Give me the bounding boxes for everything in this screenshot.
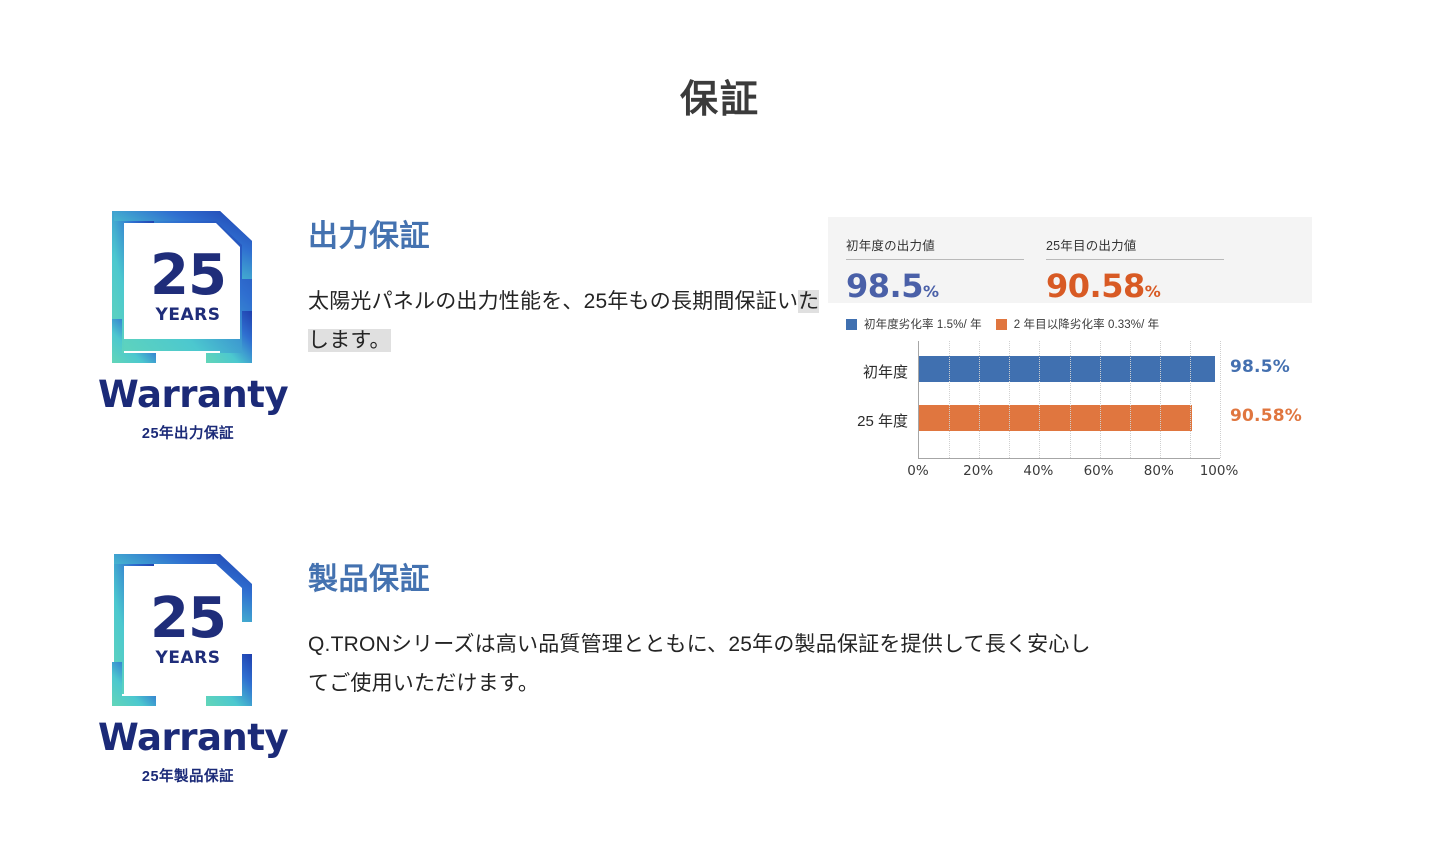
- legend-swatch-blue-icon: [846, 319, 857, 330]
- kpi-first-year-value: 98.5%: [846, 267, 1024, 305]
- legend-label-0: 初年度劣化率 1.5%/ 年: [864, 316, 982, 332]
- section-body-1: 太陽光パネルの出力性能を、25年もの長期間保証いたします。: [308, 283, 828, 361]
- badge-wordmark: Warranty: [98, 373, 278, 416]
- body-text-plain: 太陽光パネルの出力性能を、25年もの長期間保証い: [308, 290, 798, 313]
- slide-root: 保証: [0, 0, 1440, 867]
- badge-number: 25: [138, 249, 238, 302]
- bar-year-25: [919, 405, 1192, 431]
- x-tick-label: 80%: [1144, 463, 1174, 479]
- kpi-first-year-unit: %: [923, 282, 939, 301]
- badge-frame-2: 25 YEARS: [112, 554, 264, 706]
- badge-frame-1: 25 YEARS: [112, 211, 264, 363]
- kpi-first-year-number: 98.5: [846, 267, 923, 305]
- kpi-first-year: 初年度の出力値 98.5%: [846, 235, 1024, 305]
- chart-gridline: [1190, 341, 1191, 458]
- section-heading-2: 製品保証: [308, 562, 1108, 598]
- kpi-year-25-unit: %: [1145, 282, 1161, 301]
- chart-legend: 初年度劣化率 1.5%/ 年 2 年目以降劣化率 0.33%/ 年: [828, 316, 1312, 332]
- kpi-row: 初年度の出力値 98.5% 25年目の出力値 90.58%: [846, 235, 1294, 305]
- kpi-year-25-number: 90.58: [1046, 267, 1145, 305]
- body-text-plain: Q.TRONシリーズは高い品質管理とともに、25年の製品保証を提供して長く安心し…: [308, 633, 1091, 695]
- badge-number: 25: [138, 592, 238, 645]
- category-label-1: 25 年度: [857, 410, 908, 431]
- kpi-first-year-label: 初年度の出力値: [846, 235, 1024, 260]
- chart-plot-area: [918, 341, 1220, 459]
- chart-category-axis: 初年度 25 年度: [846, 341, 914, 459]
- legend-item-1: 2 年目以降劣化率 0.33%/ 年: [996, 316, 1160, 332]
- chart-x-axis-ticks: 0%20%40%60%80%100%: [918, 463, 1220, 485]
- x-tick-label: 20%: [963, 463, 993, 479]
- section-body-2: Q.TRONシリーズは高い品質管理とともに、25年の製品保証を提供して長く安心し…: [308, 626, 1108, 704]
- badge-caption: 25年出力保証: [98, 422, 278, 443]
- section-heading-1: 出力保証: [308, 219, 828, 255]
- chart-plot: 初年度 25 年度 98.5% 90.58% 0%20%40%60%80%100…: [846, 341, 1226, 477]
- chart-gridline: [1100, 341, 1101, 458]
- warranty-badge-2: 25 YEARS Warranty 25年製品保証: [98, 548, 278, 773]
- kpi-year-25: 25年目の出力値 90.58%: [1046, 235, 1224, 305]
- text-column-1: 出力保証 太陽光パネルの出力性能を、25年もの長期間保証いたします。: [308, 219, 828, 361]
- chart-gridline: [1039, 341, 1040, 458]
- kpi-year-25-label: 25年目の出力値: [1046, 235, 1224, 260]
- bar-first-year: [919, 356, 1215, 382]
- chart-gridline: [1220, 341, 1221, 458]
- warranty-badge-1: 25 YEARS Warranty 25年出力保証: [98, 205, 278, 430]
- x-tick-label: 0%: [907, 463, 928, 479]
- bar-value-first-year: 98.5%: [1230, 357, 1290, 377]
- badge-caption: 25年製品保証: [98, 765, 278, 786]
- badge-years-label: YEARS: [138, 305, 238, 325]
- page-title: 保証: [0, 68, 1440, 123]
- category-label-0: 初年度: [863, 361, 908, 382]
- output-warranty-chart: 初年度の出力値 98.5% 25年目の出力値 90.58%: [828, 217, 1312, 477]
- legend-swatch-orange-icon: [996, 319, 1007, 330]
- legend-label-1: 2 年目以降劣化率 0.33%/ 年: [1014, 316, 1160, 332]
- badge-inner-2: 25 YEARS: [138, 592, 238, 668]
- x-tick-label: 40%: [1023, 463, 1053, 479]
- x-tick-label: 60%: [1084, 463, 1114, 479]
- chart-gridline: [1160, 341, 1161, 458]
- kpi-year-25-value: 90.58%: [1046, 267, 1224, 305]
- chart-gridline: [1070, 341, 1071, 458]
- chart-gridline: [979, 341, 980, 458]
- kpi-panel: 初年度の出力値 98.5% 25年目の出力値 90.58%: [828, 217, 1312, 303]
- badge-years-label: YEARS: [138, 648, 238, 668]
- bar-value-year-25: 90.58%: [1230, 406, 1302, 426]
- chart-gridline: [949, 341, 950, 458]
- badge-inner-1: 25 YEARS: [138, 249, 238, 325]
- legend-item-0: 初年度劣化率 1.5%/ 年: [846, 316, 982, 332]
- text-column-2: 製品保証 Q.TRONシリーズは高い品質管理とともに、25年の製品保証を提供して…: [308, 562, 1108, 704]
- chart-gridline: [1130, 341, 1131, 458]
- chart-gridline: [1009, 341, 1010, 458]
- badge-wordmark: Warranty: [98, 716, 278, 759]
- x-tick-label: 100%: [1200, 463, 1239, 479]
